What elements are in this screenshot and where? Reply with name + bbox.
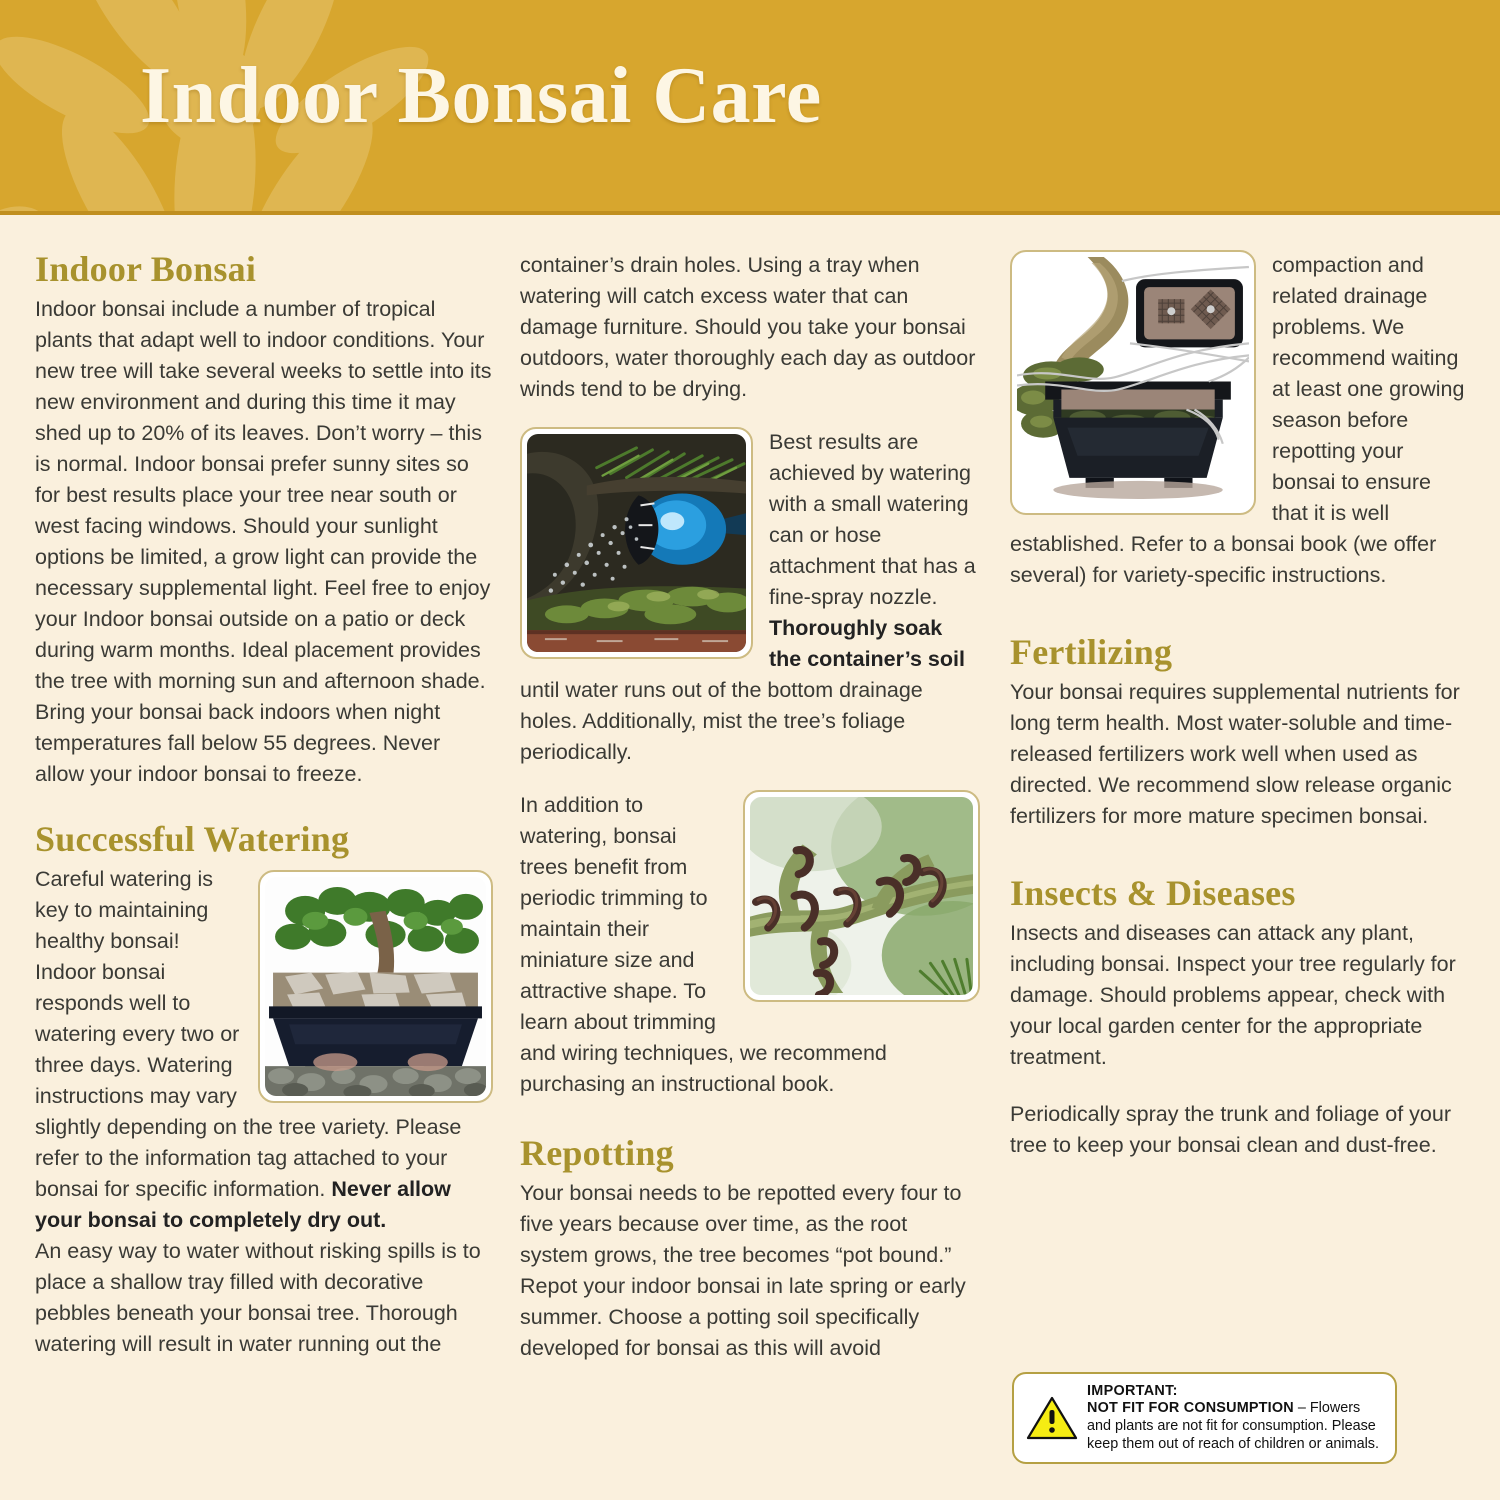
column-two: container’s drain holes. Using a tray wh…	[520, 250, 980, 1364]
paragraph-insects-2: Periodically spray the trunk and foliage…	[1010, 1099, 1470, 1161]
page-title: Indoor Bonsai Care	[140, 56, 822, 136]
column-one: Indoor Bonsai Indoor bonsai include a nu…	[35, 250, 493, 1360]
paragraph-drain-holes: container’s drain holes. Using a tray wh…	[520, 250, 980, 405]
heading-successful-watering: Successful Watering	[35, 820, 493, 859]
header-divider	[0, 211, 1500, 215]
column-three: compaction and related drainage problems…	[1010, 250, 1470, 1161]
warning-text: IMPORTANT: NOT FIT FOR CONSUMPTION – Flo…	[1087, 1383, 1385, 1453]
hose-watering-photo	[520, 427, 753, 659]
paragraph-insects-1: Insects and diseases can attack any plan…	[1010, 918, 1470, 1073]
page-header: Indoor Bonsai Care	[0, 0, 1500, 215]
wired-branch-photo	[743, 790, 980, 1002]
warning-heading: IMPORTANT:	[1087, 1383, 1385, 1401]
best-results-text: Best results are achieved by watering wi…	[769, 430, 976, 609]
paragraph-indoor-bonsai: Indoor bonsai include a number of tropic…	[35, 294, 493, 790]
repotting-pot-photo	[1010, 250, 1256, 515]
heading-insects-diseases: Insects & Diseases	[1010, 874, 1470, 913]
paragraph-fertilizing: Your bonsai requires supplemental nutrie…	[1010, 677, 1470, 832]
paragraph-watering-tray: An easy way to water without risking spi…	[35, 1236, 493, 1360]
heading-repotting: Repotting	[520, 1134, 980, 1173]
heading-fertilizing: Fertilizing	[1010, 633, 1470, 672]
warning-body-emphasis: NOT FIT FOR CONSUMPTION	[1087, 1400, 1294, 1416]
best-results-text-end: until water runs out of the bottom drain…	[520, 678, 923, 764]
warning-triangle-icon	[1026, 1395, 1078, 1441]
consumption-warning-box: IMPORTANT: NOT FIT FOR CONSUMPTION – Flo…	[1012, 1372, 1397, 1464]
paragraph-repotting: Your bonsai needs to be repotted every f…	[520, 1178, 980, 1364]
heading-indoor-bonsai: Indoor Bonsai	[35, 250, 493, 289]
jade-bonsai-photo	[258, 870, 493, 1103]
best-results-emphasis: Thoroughly soak the container’s soil	[769, 616, 965, 671]
warning-body: NOT FIT FOR CONSUMPTION – Flowers and pl…	[1087, 1400, 1385, 1453]
